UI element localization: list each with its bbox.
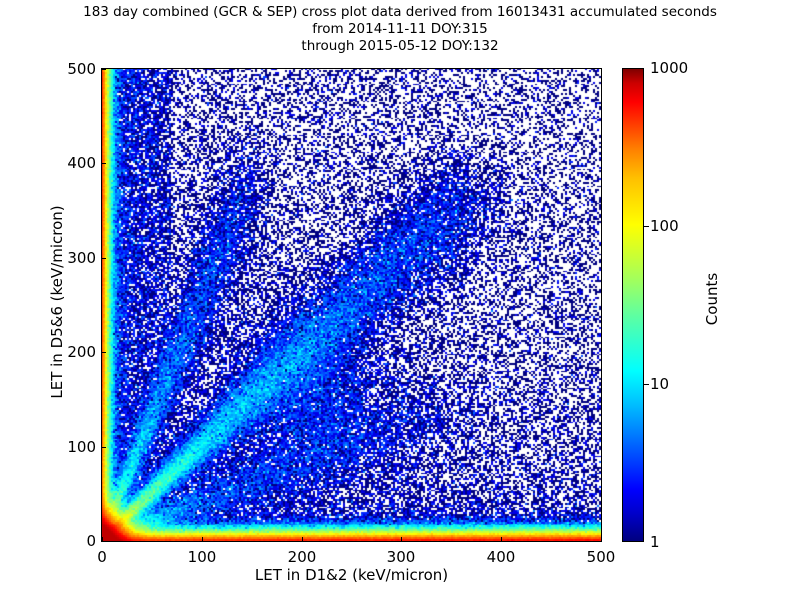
colorbar-tick-label: 100 [650, 217, 679, 235]
colorbar-tick-label: 1000 [650, 59, 688, 77]
colorbar-tick-mark [644, 226, 649, 227]
colorbar-tick-mark [644, 384, 649, 385]
colorbar-label: Counts [703, 179, 721, 419]
colorbar-ticks: 1101001000 [0, 0, 800, 600]
colorbar-tick-label: 1 [650, 533, 660, 551]
colorbar-tick-label: 10 [650, 375, 669, 393]
figure-canvas: 183 day combined (GCR & SEP) cross plot … [0, 0, 800, 600]
